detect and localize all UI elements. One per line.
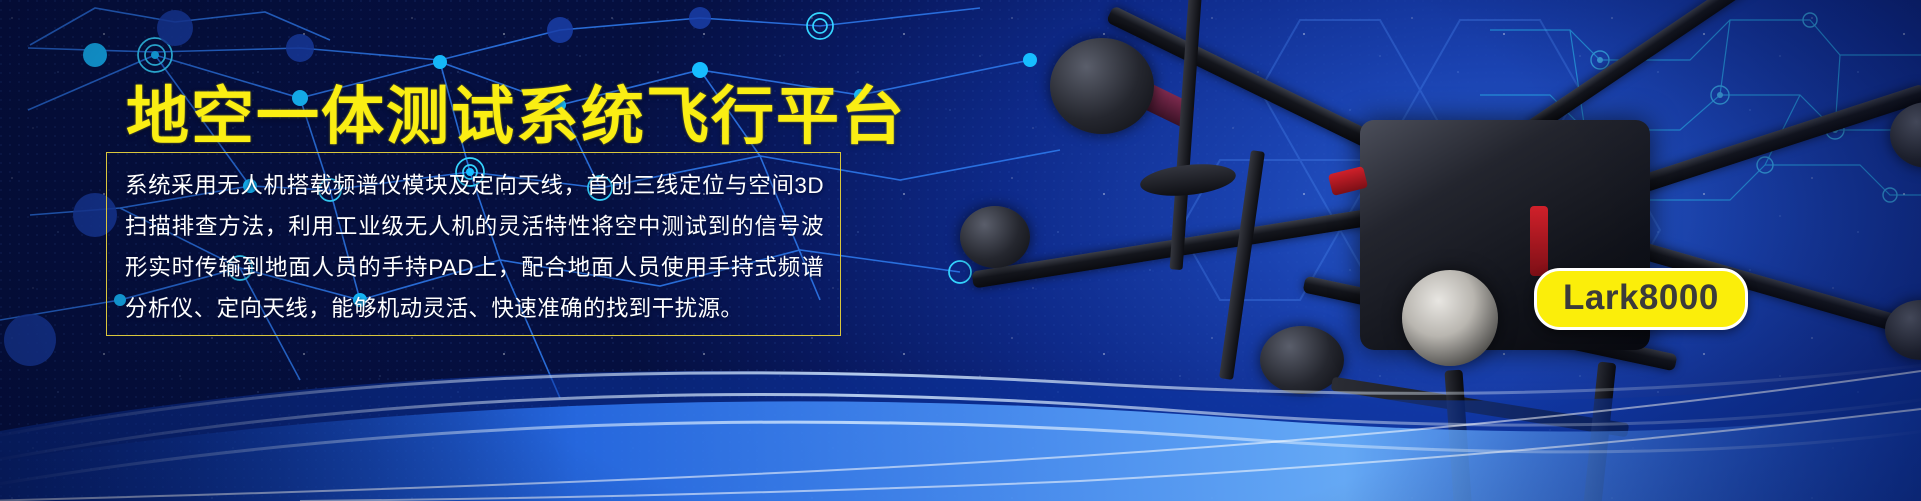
page-title: 地空一体测试系统飞行平台 xyxy=(126,84,906,150)
description-box: 系统采用无人机搭载频谱仪模块及定向天线，首创三线定位与空间3D扫描排查方法，利用… xyxy=(106,152,841,336)
light-wave-graphic xyxy=(0,311,1921,501)
product-model-badge: Lark8000 xyxy=(1534,268,1748,330)
description-text: 系统采用无人机搭载频谱仪模块及定向天线，首创三线定位与空间3D扫描排查方法，利用… xyxy=(125,165,824,329)
circuit-lines-graphic xyxy=(1480,0,1921,230)
product-banner: 地空一体测试系统飞行平台 系统采用无人机搭载频谱仪模块及定向天线，首创三线定位与… xyxy=(0,0,1921,501)
hexacopter-drone-photo xyxy=(1030,0,1921,501)
